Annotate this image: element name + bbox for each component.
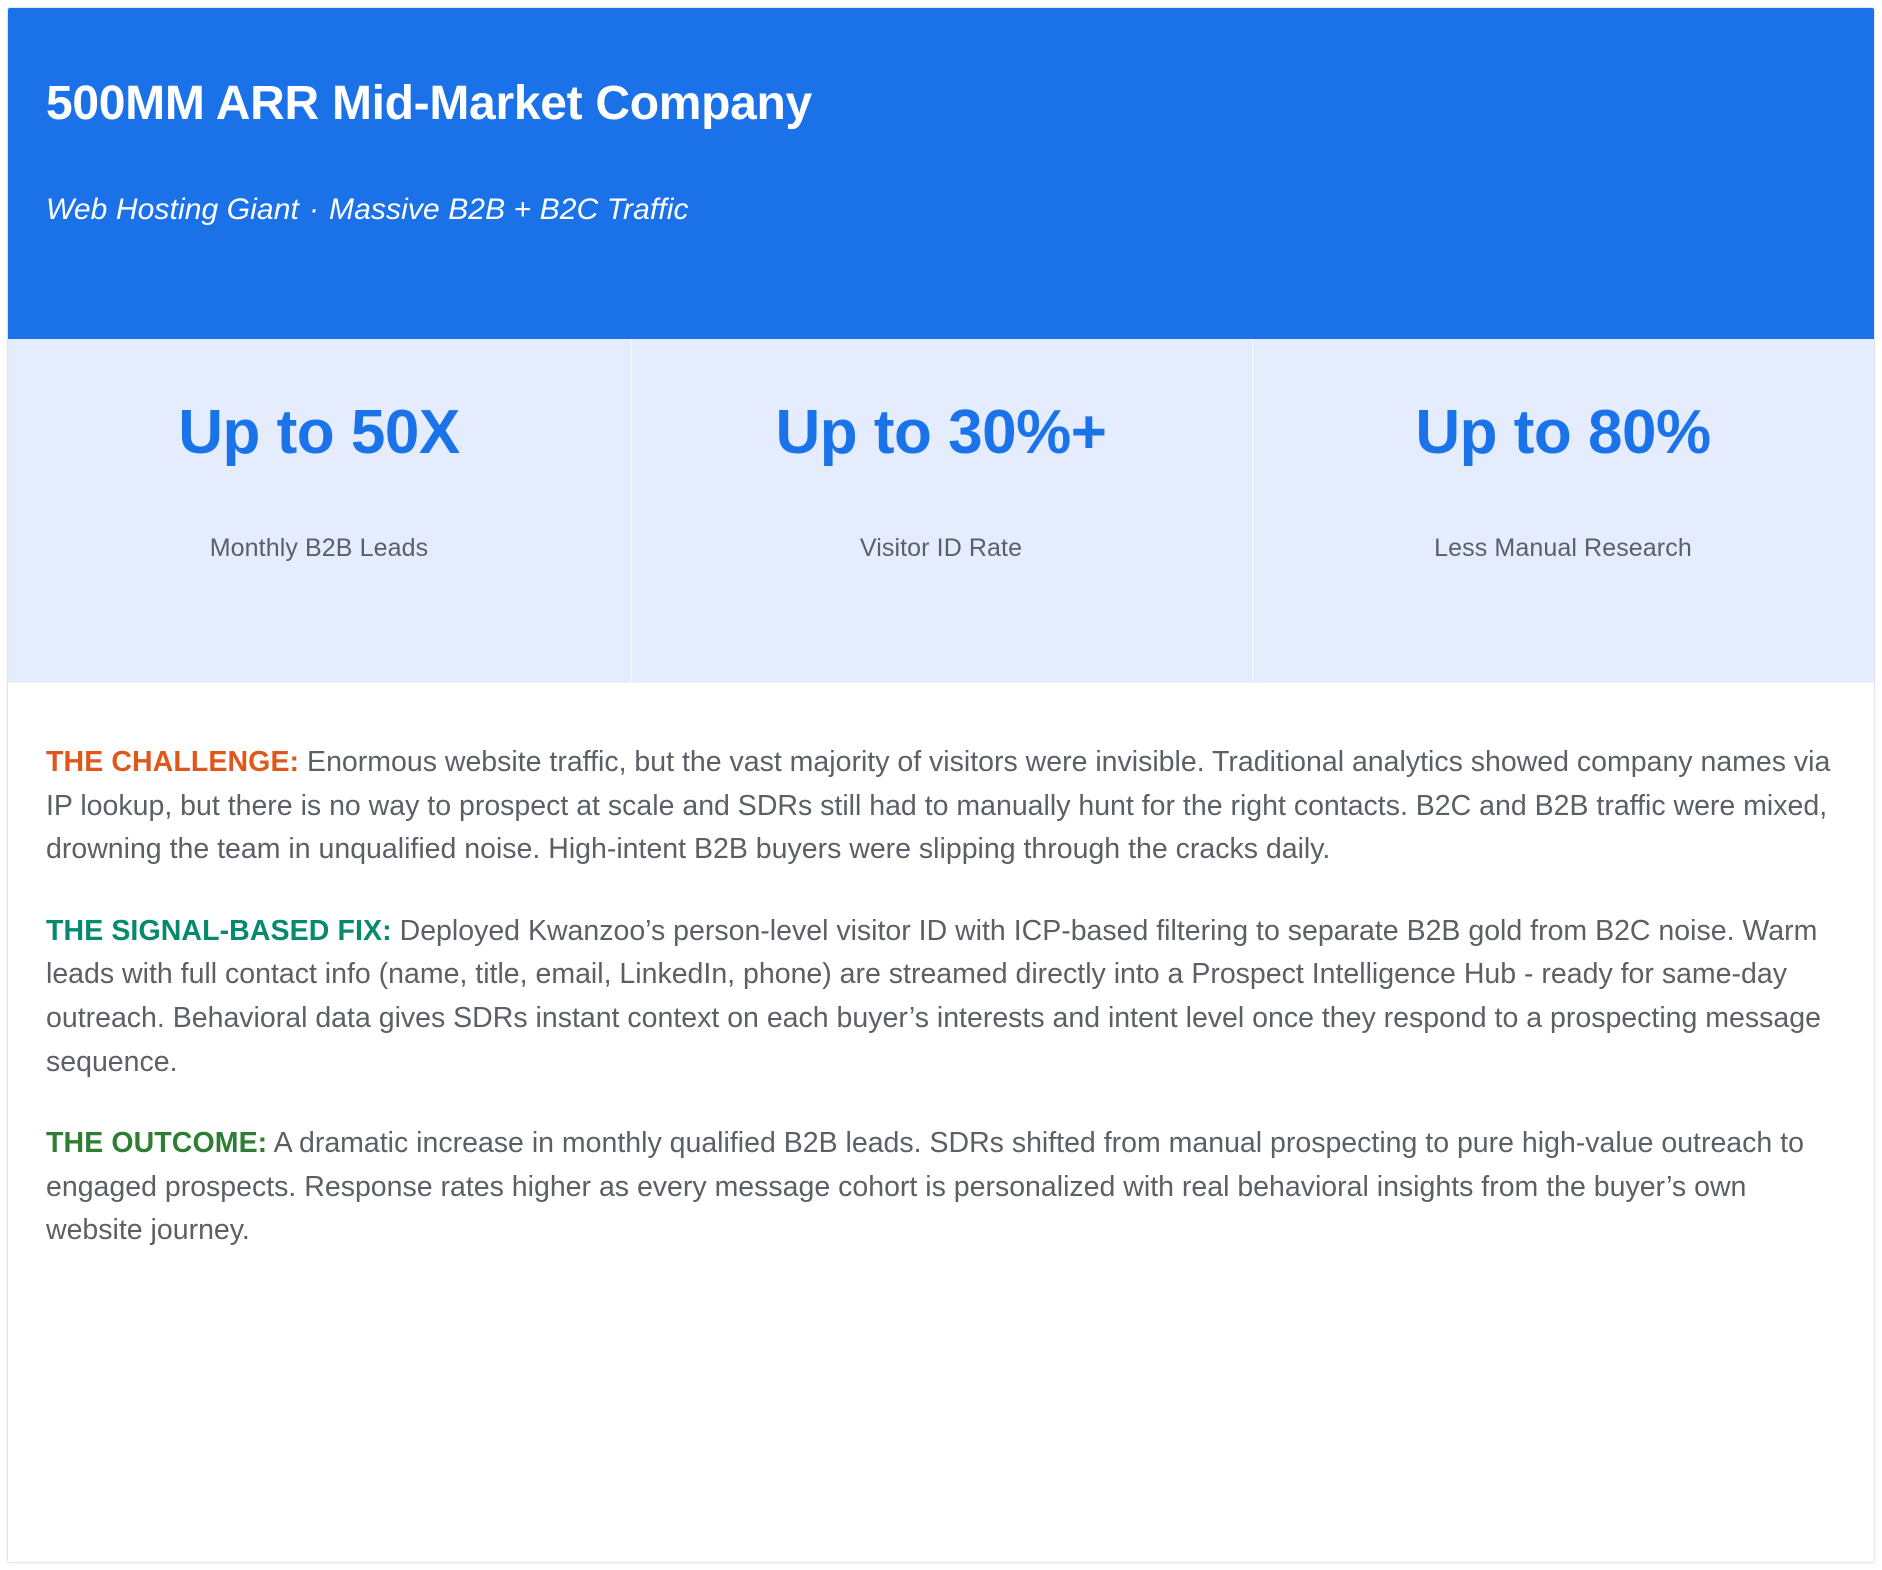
- stat-column-monthly-b2b-leads: Up to 50X Monthly B2B Leads: [8, 339, 630, 682]
- subtitle-left-text: Web Hosting Giant: [46, 193, 299, 226]
- paragraph-label-signal-based-fix: THE SIGNAL-BASED FIX:: [46, 915, 392, 947]
- stats-band: Up to 50X Monthly B2B Leads Up to 30%+ V…: [8, 339, 1874, 683]
- card-header: 500MM ARR Mid-Market Company Web Hosting…: [8, 8, 1874, 339]
- stat-label: Monthly B2B Leads: [210, 534, 429, 563]
- stat-label: Less Manual Research: [1434, 534, 1692, 563]
- paragraph-label-outcome: THE OUTCOME:: [46, 1127, 267, 1159]
- case-study-card: 500MM ARR Mid-Market Company Web Hosting…: [7, 7, 1875, 1563]
- header-subtitle: Web Hosting Giant·Massive B2B + B2C Traf…: [46, 193, 1836, 227]
- subtitle-right-text: Massive B2B + B2C Traffic: [329, 193, 689, 226]
- stat-column-less-manual-research: Up to 80% Less Manual Research: [1252, 339, 1874, 682]
- paragraph-label-challenge: THE CHALLENGE:: [46, 746, 299, 778]
- paragraph-challenge: THE CHALLENGE: Enormous website traffic,…: [46, 741, 1836, 872]
- paragraph-signal-based-fix: THE SIGNAL-BASED FIX: Deployed Kwanzoo’s…: [46, 910, 1836, 1084]
- paragraph-text-challenge: Enormous website traffic, but the vast m…: [46, 746, 1830, 865]
- stat-value: Up to 50X: [178, 402, 459, 464]
- stat-label: Visitor ID Rate: [860, 534, 1022, 563]
- card-body: THE CHALLENGE: Enormous website traffic,…: [8, 683, 1874, 1253]
- stat-value: Up to 80%: [1415, 402, 1710, 464]
- paragraph-outcome: THE OUTCOME: A dramatic increase in mont…: [46, 1122, 1836, 1253]
- subtitle-separator: ·: [299, 193, 329, 226]
- paragraph-text-outcome: A dramatic increase in monthly qualified…: [46, 1127, 1804, 1246]
- page-title: 500MM ARR Mid-Market Company: [46, 78, 1836, 131]
- stat-column-visitor-id-rate: Up to 30%+ Visitor ID Rate: [630, 339, 1252, 682]
- stat-value: Up to 30%+: [776, 402, 1107, 464]
